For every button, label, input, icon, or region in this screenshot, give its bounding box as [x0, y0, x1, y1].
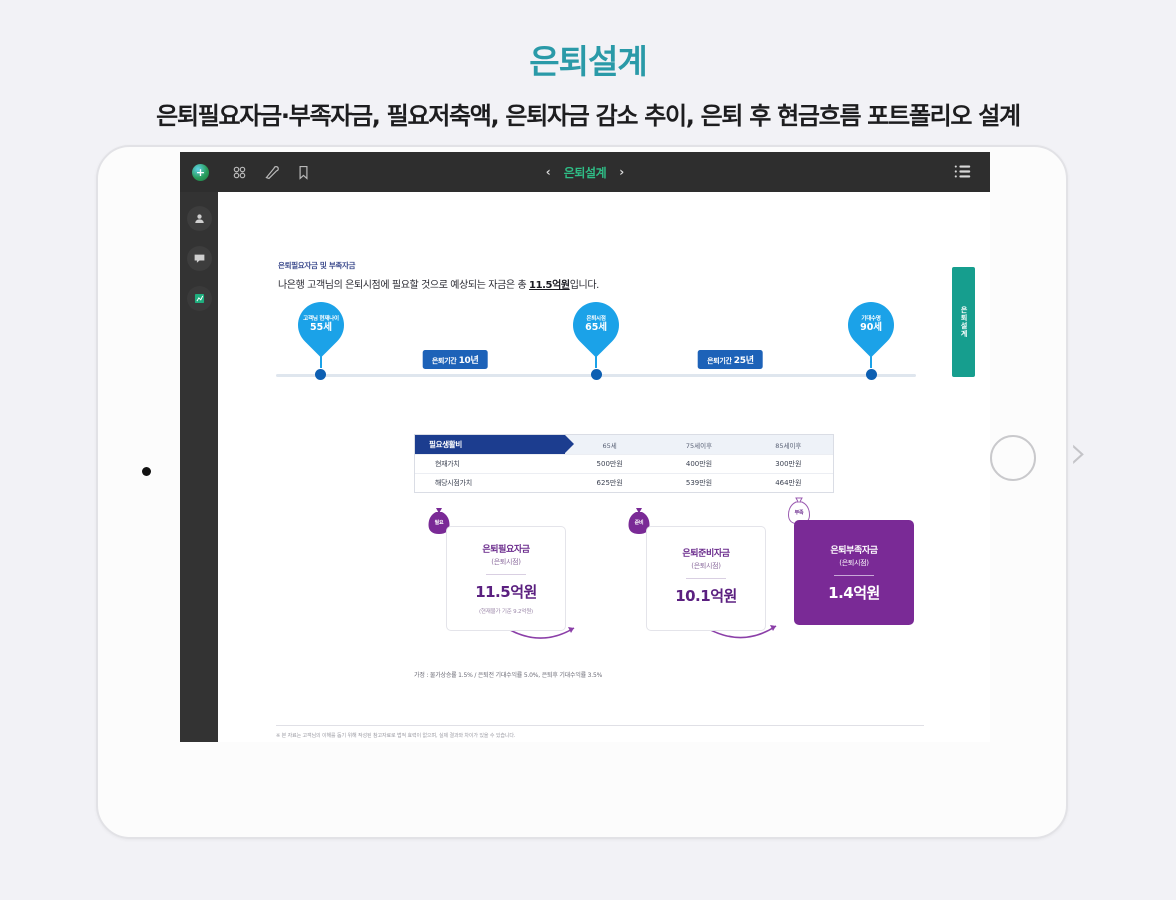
table-cell: 300만원	[744, 455, 833, 473]
app-body: 은퇴설계 은퇴필요자금 및 부족자금 나은행 고객님의 은퇴시점에 필요할 것으…	[180, 192, 990, 742]
headline-post: 입니다.	[570, 280, 599, 291]
fund-card-title: 은퇴준비자금	[682, 546, 729, 559]
slide-section-tab-label: 은퇴설계	[959, 306, 968, 338]
sidebar-item-person[interactable]	[187, 206, 212, 231]
grid-icon[interactable]	[231, 164, 248, 181]
fund-card-required[interactable]: 은퇴필요자금 (은퇴시점) 11.5억원 (현재물가 기준 9.2억원)	[446, 526, 566, 631]
living-cost-table: 필요생활비 65세 75세이후 85세이후 현재가치 500만원 400만원 3…	[414, 434, 834, 493]
slide-canvas: 은퇴설계 은퇴필요자금 및 부족자금 나은행 고객님의 은퇴시점에 필요할 것으…	[218, 192, 990, 742]
fund-card-title: 은퇴부족자금	[830, 543, 877, 556]
fund-card-title: 은퇴필요자금	[482, 542, 529, 555]
duration-badge-value: 25년	[734, 356, 754, 366]
table-column-header: 85세이후	[744, 435, 833, 454]
table-row-header-title: 필요생활비	[415, 435, 565, 454]
pin-age: 90세	[860, 323, 882, 334]
table-cell: 539만원	[654, 474, 743, 492]
table-column-header: 65세	[565, 435, 654, 454]
pin-age: 55세	[303, 323, 339, 334]
tablet-mockup: ‹ › +	[0, 131, 1176, 841]
slide-headline: 나은행 고객님의 은퇴시점에 필요할 것으로 예상되는 자금은 총 11.5억원…	[278, 276, 599, 291]
fund-card-value: 11.5억원	[475, 581, 537, 602]
page-header: 은퇴설계 은퇴필요자금·부족자금, 필요저축액, 은퇴자금 감소 추이, 은퇴 …	[0, 0, 1176, 131]
doc-next-button[interactable]: ›	[619, 165, 624, 179]
fund-card-shortfall[interactable]: 은퇴부족자금 (은퇴시점) 1.4억원	[794, 520, 914, 625]
timeline-node	[591, 369, 602, 380]
carousel-next-button[interactable]: ›	[1070, 429, 1088, 475]
fund-card-prepared[interactable]: 은퇴준비자금 (은퇴시점) 10.1억원	[646, 526, 766, 631]
tablet-frame: +	[96, 145, 1068, 839]
timeline-node	[315, 369, 326, 380]
duration-badge-label: 은퇴기간	[707, 357, 732, 365]
fund-card-note: (현재물가 기준 9.2억원)	[479, 607, 533, 615]
camera-dot	[142, 467, 151, 476]
money-bag-label: 부족	[786, 509, 812, 516]
fund-card-subtitle: (은퇴시점)	[839, 558, 868, 568]
timeline-node	[866, 369, 877, 380]
pin-marker: 고객님 현재나이 55세	[288, 293, 353, 358]
fund-summary-group: 필요 은퇴필요자금 (은퇴시점) 11.5억원 (현재물가 기준 9.2억원)	[388, 512, 908, 652]
money-bag-label: 준비	[626, 519, 652, 526]
app-logo-icon[interactable]: +	[192, 164, 209, 181]
table-cell: 464만원	[744, 474, 833, 492]
doc-title: 은퇴설계	[564, 164, 607, 181]
timeline-duration-badge: 은퇴기간 25년	[698, 350, 763, 369]
toolbar-icon-group	[231, 164, 312, 181]
home-button[interactable]	[990, 435, 1036, 481]
fund-card-subtitle: (은퇴시점)	[691, 561, 720, 571]
table-row: 현재가치 500만원 400만원 300만원	[415, 454, 833, 473]
headline-pre: 나은행 고객님의 은퇴시점에 필요할 것으로 예상되는 자금은 총	[278, 280, 529, 291]
pin-marker: 은퇴시점 65세	[563, 293, 628, 358]
divider	[834, 575, 874, 576]
divider	[486, 574, 526, 575]
money-bag-label: 필요	[426, 519, 452, 526]
divider	[686, 578, 726, 579]
timeline-duration-badge: 은퇴기간 10년	[423, 350, 488, 369]
pin-age: 65세	[585, 323, 607, 334]
table-row-label: 해당시점가치	[415, 474, 565, 492]
bookmark-icon[interactable]	[295, 164, 312, 181]
duration-badge-label: 은퇴기간	[432, 357, 457, 365]
slide-disclaimer: ※ 본 자료는 고객님의 이해를 돕기 위해 작성된 참고자료로 법적 효력이 …	[276, 725, 924, 740]
pen-icon[interactable]	[263, 164, 280, 181]
page-title: 은퇴설계	[0, 44, 1176, 80]
slide-eyebrow: 은퇴필요자금 및 부족자금	[278, 260, 599, 271]
table-row-label: 현재가치	[415, 455, 565, 473]
sidebar-item-chart[interactable]	[187, 286, 212, 311]
duration-badge-value: 10년	[459, 356, 479, 366]
headline-value: 11.5억원	[529, 280, 570, 291]
table-row: 해당시점가치 625만원 539만원 464만원	[415, 473, 833, 492]
retirement-timeline: 고객님 현재나이 55세 은퇴시점 65세	[276, 302, 916, 392]
app-toolbar: +	[180, 152, 990, 192]
table-column-header: 75세이후	[654, 435, 743, 454]
table-cell: 400만원	[654, 455, 743, 473]
table-cell: 625만원	[565, 474, 654, 492]
sidebar-item-chat[interactable]	[187, 246, 212, 271]
assumption-note: 가정 : 물가상승률 1.5% / 은퇴전 기대수익률 5.0%, 은퇴후 기대…	[414, 670, 602, 679]
fund-card-value: 10.1억원	[675, 585, 737, 606]
fund-card-value: 1.4억원	[828, 582, 880, 603]
doc-prev-button[interactable]: ‹	[546, 165, 551, 179]
page-subtitle: 은퇴필요자금·부족자금, 필요저축액, 은퇴자금 감소 추이, 은퇴 후 현금흐…	[0, 102, 1176, 131]
timeline-pin-life-expectancy: 기대수명 90세	[845, 302, 897, 348]
pin-marker: 기대수명 90세	[839, 293, 904, 358]
slide-section-tab[interactable]: 은퇴설계	[952, 267, 975, 377]
slide-header: 은퇴필요자금 및 부족자금 나은행 고객님의 은퇴시점에 필요할 것으로 예상되…	[278, 260, 599, 291]
table-header-row: 필요생활비 65세 75세이후 85세이후	[415, 435, 833, 454]
timeline-pin-current-age: 고객님 현재나이 55세	[295, 302, 347, 348]
table-cell: 500만원	[565, 455, 654, 473]
fund-card-subtitle: (은퇴시점)	[491, 557, 520, 567]
app-sidebar	[180, 192, 218, 742]
list-menu-icon[interactable]	[954, 164, 972, 183]
app-screen: +	[180, 152, 990, 742]
timeline-pin-retirement: 은퇴시점 65세	[570, 302, 622, 348]
